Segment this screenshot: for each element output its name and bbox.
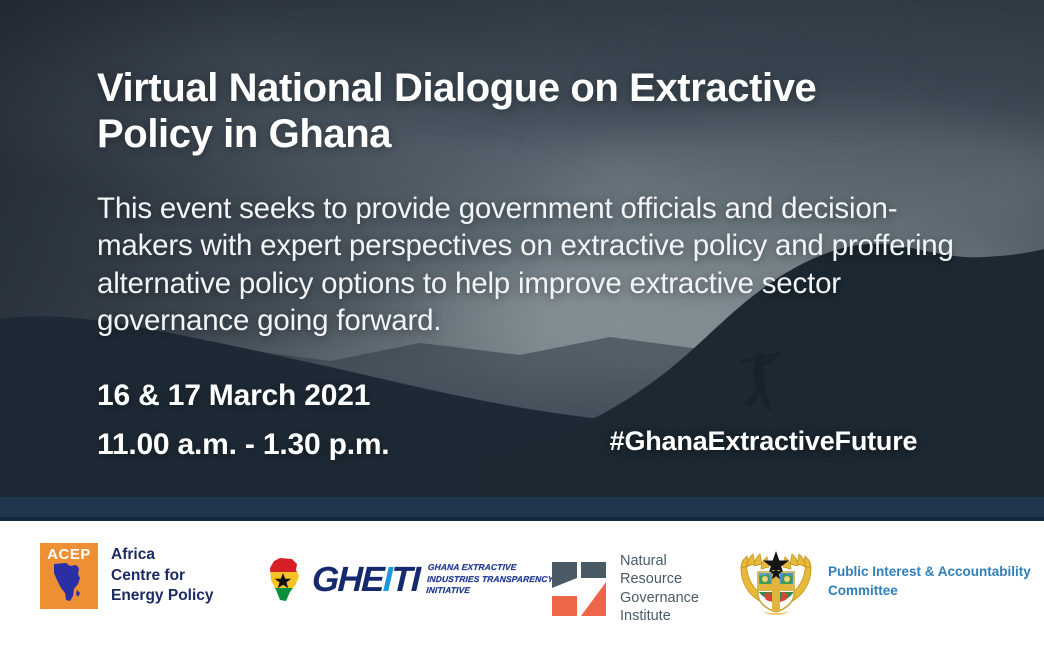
africa-map-icon [46, 560, 92, 606]
logo-gheiti[interactable]: GHEITI Ghana Extractive Industries Trans… [266, 556, 553, 604]
page-title: Virtual National Dialogue on Extractive … [97, 65, 917, 158]
logo-acep[interactable]: ACEP Africa Centre for Energy Policy [40, 543, 214, 609]
event-schedule: 16 & 17 March 2021 11.00 a.m. - 1.30 p.m… [97, 372, 389, 469]
gheiti-tagline: Ghana Extractive Industries Transparency… [426, 562, 555, 597]
logo-piac[interactable]: Public Interest & Accountability Committ… [737, 546, 1031, 618]
event-hashtag: #GhanaExtractiveFuture [526, 426, 1001, 457]
nrgi-name: Natural Resource Governance Institute [620, 552, 699, 626]
acep-mark-icon: ACEP [40, 543, 98, 609]
logo-nrgi[interactable]: Natural Resource Governance Institute [550, 552, 699, 626]
nrgi-mark-icon [550, 560, 608, 618]
event-time: 11.00 a.m. - 1.30 p.m. [97, 421, 389, 470]
miner-figure-icon [728, 349, 794, 411]
hero-photo-background: Virtual National Dialogue on Extractive … [0, 0, 1044, 497]
ghana-flag-map-icon [266, 556, 318, 604]
gheiti-word-suffix: TI [391, 560, 420, 599]
divider-band [0, 497, 1044, 521]
gheiti-wordmark: GHEITI [311, 560, 419, 600]
acep-name: Africa Centre for Energy Policy [111, 545, 214, 607]
event-poster: Virtual National Dialogue on Extractive … [0, 0, 1044, 653]
event-description: This event seeks to provide government o… [97, 190, 977, 340]
ghana-coat-of-arms-icon [737, 546, 815, 618]
event-date: 16 & 17 March 2021 [97, 372, 389, 421]
gheiti-word-primary: GHE [311, 560, 383, 599]
piac-name: Public Interest & Accountability Committ… [828, 563, 1031, 601]
